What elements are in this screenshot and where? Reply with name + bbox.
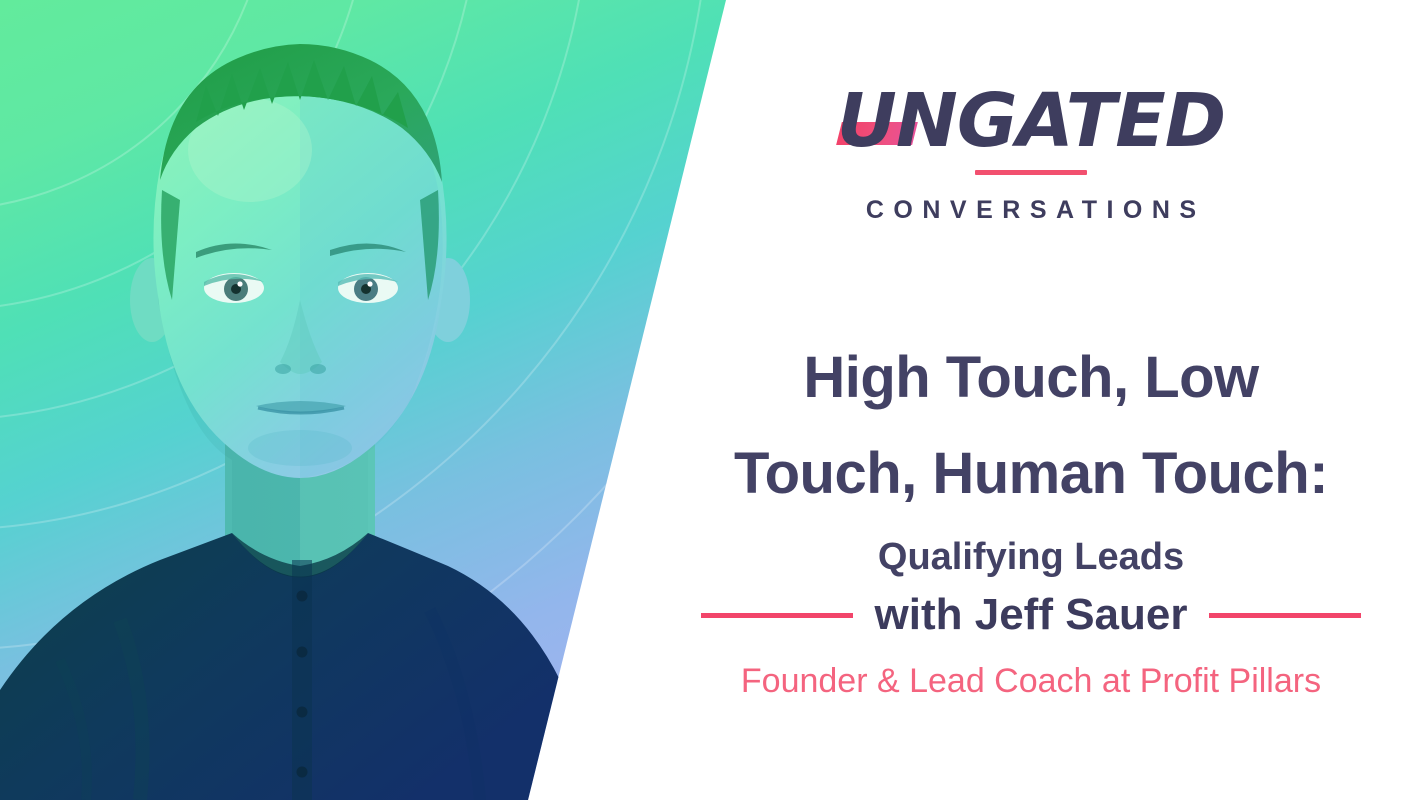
speaker-name-row: with Jeff Sauer xyxy=(640,586,1422,644)
logo-divider-rule xyxy=(975,170,1087,175)
title-line-1: High Touch, Low xyxy=(640,330,1422,426)
speaker-name: with Jeff Sauer xyxy=(875,586,1188,644)
title-block: High Touch, Low Touch, Human Touch: Qual… xyxy=(640,330,1422,582)
title-subtitle: Qualifying Leads xyxy=(640,532,1422,582)
content-panel: UNGATED CONVERSATIONS High Touch, Low To… xyxy=(640,0,1422,800)
ungated-logo: UNGATED xyxy=(833,86,1229,156)
webinar-title-card: UNGATED CONVERSATIONS High Touch, Low To… xyxy=(0,0,1422,800)
logo-subtitle: CONVERSATIONS xyxy=(640,196,1422,225)
speaker-rule-left xyxy=(701,613,853,618)
speaker-rule-right xyxy=(1209,613,1361,618)
logo-wordmark-text: UNGATED xyxy=(837,78,1225,164)
title-line-2: Touch, Human Touch: xyxy=(640,426,1422,522)
brand-logo-block: UNGATED CONVERSATIONS xyxy=(640,86,1422,225)
speaker-role: Founder & Lead Coach at Profit Pillars xyxy=(640,658,1422,704)
